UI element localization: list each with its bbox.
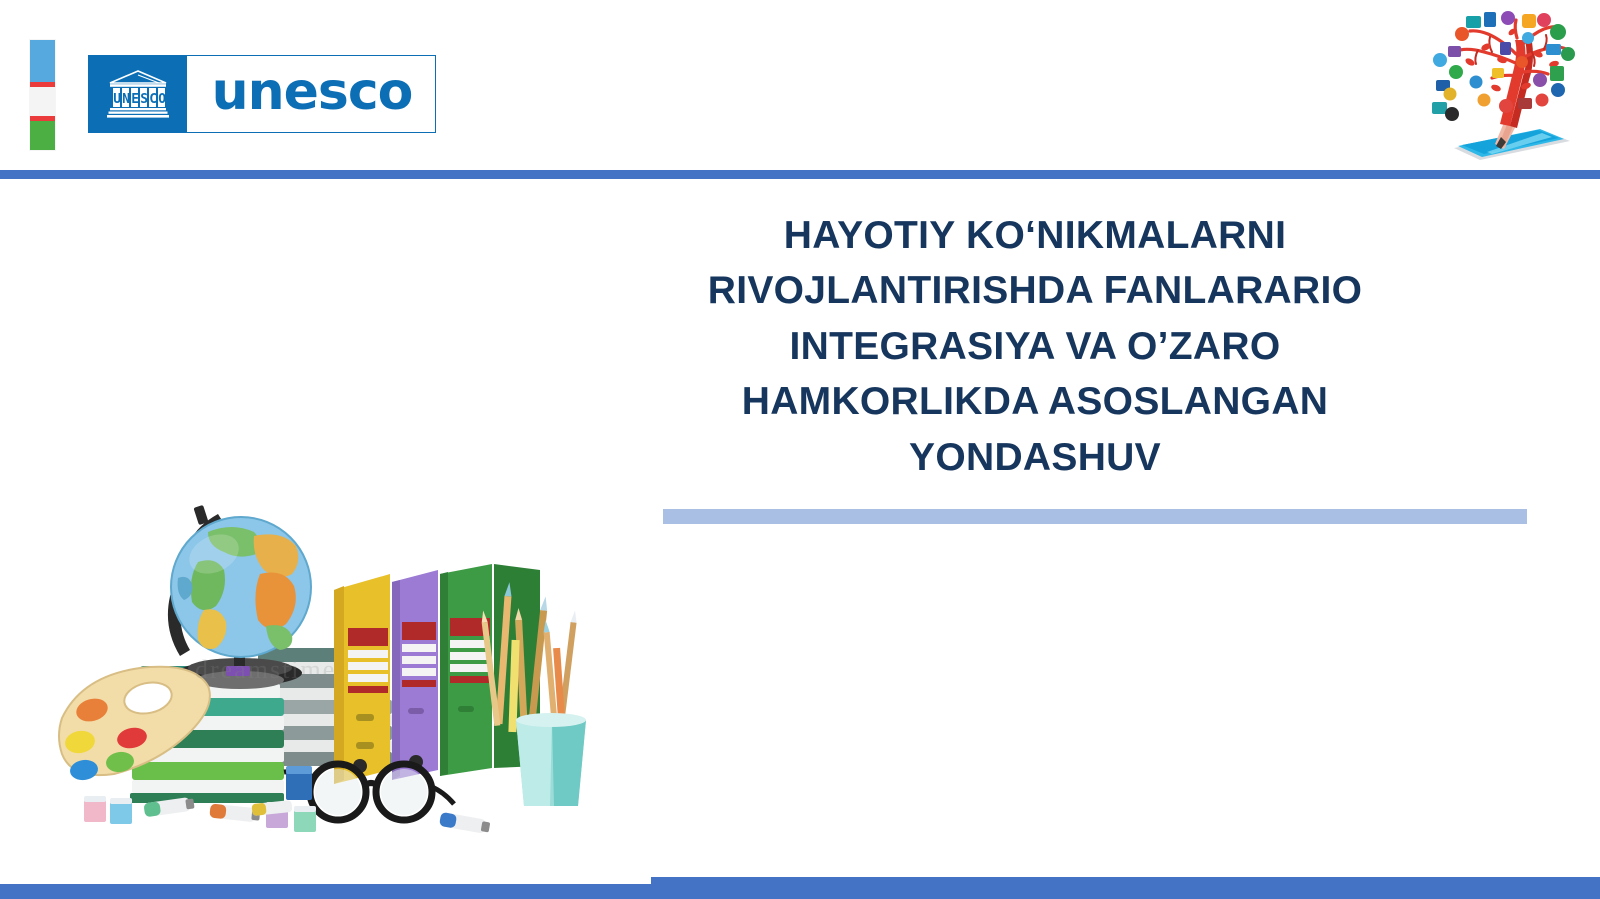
education-icons-cloud	[1432, 11, 1575, 121]
tablet-shape	[1454, 129, 1570, 160]
presentation-slide: U N E S C O unesco	[0, 0, 1600, 899]
slide-title-block: HAYOTIY KO‘NIKMALARNI RIVOJLANTIRISHDA F…	[640, 208, 1430, 485]
unesco-wordmark-panel: unesco	[187, 56, 435, 132]
unesco-wordmark: unesco	[212, 66, 413, 123]
footer-accent-bar-right	[651, 877, 1600, 899]
flag-band-green	[30, 121, 55, 150]
svg-text:N: N	[122, 92, 130, 107]
footer-accent-bar-left	[0, 884, 655, 899]
svg-text:C: C	[149, 92, 157, 107]
svg-text:S: S	[140, 92, 148, 107]
unesco-emblem-panel: U N E S C O	[89, 56, 187, 132]
knowledge-tree-illustration	[1392, 2, 1582, 162]
tree-on-tablet-icon	[1392, 2, 1582, 162]
header-accent-bar	[0, 170, 1600, 179]
school-supplies-illustration	[48, 470, 593, 835]
school-supplies-icon	[48, 470, 593, 835]
svg-text:O: O	[158, 92, 166, 107]
unesco-logo: U N E S C O unesco	[88, 55, 436, 133]
title-underline-bar	[663, 509, 1527, 524]
flag-band-white	[30, 87, 55, 116]
svg-text:E: E	[131, 92, 139, 107]
flag-band-blue	[30, 40, 55, 82]
svg-text:U: U	[113, 92, 121, 107]
unesco-temple-icon: U N E S C O	[107, 68, 169, 120]
uzbekistan-flag-icon	[30, 40, 55, 150]
page-title: HAYOTIY KO‘NIKMALARNI RIVOJLANTIRISHDA F…	[640, 208, 1430, 485]
